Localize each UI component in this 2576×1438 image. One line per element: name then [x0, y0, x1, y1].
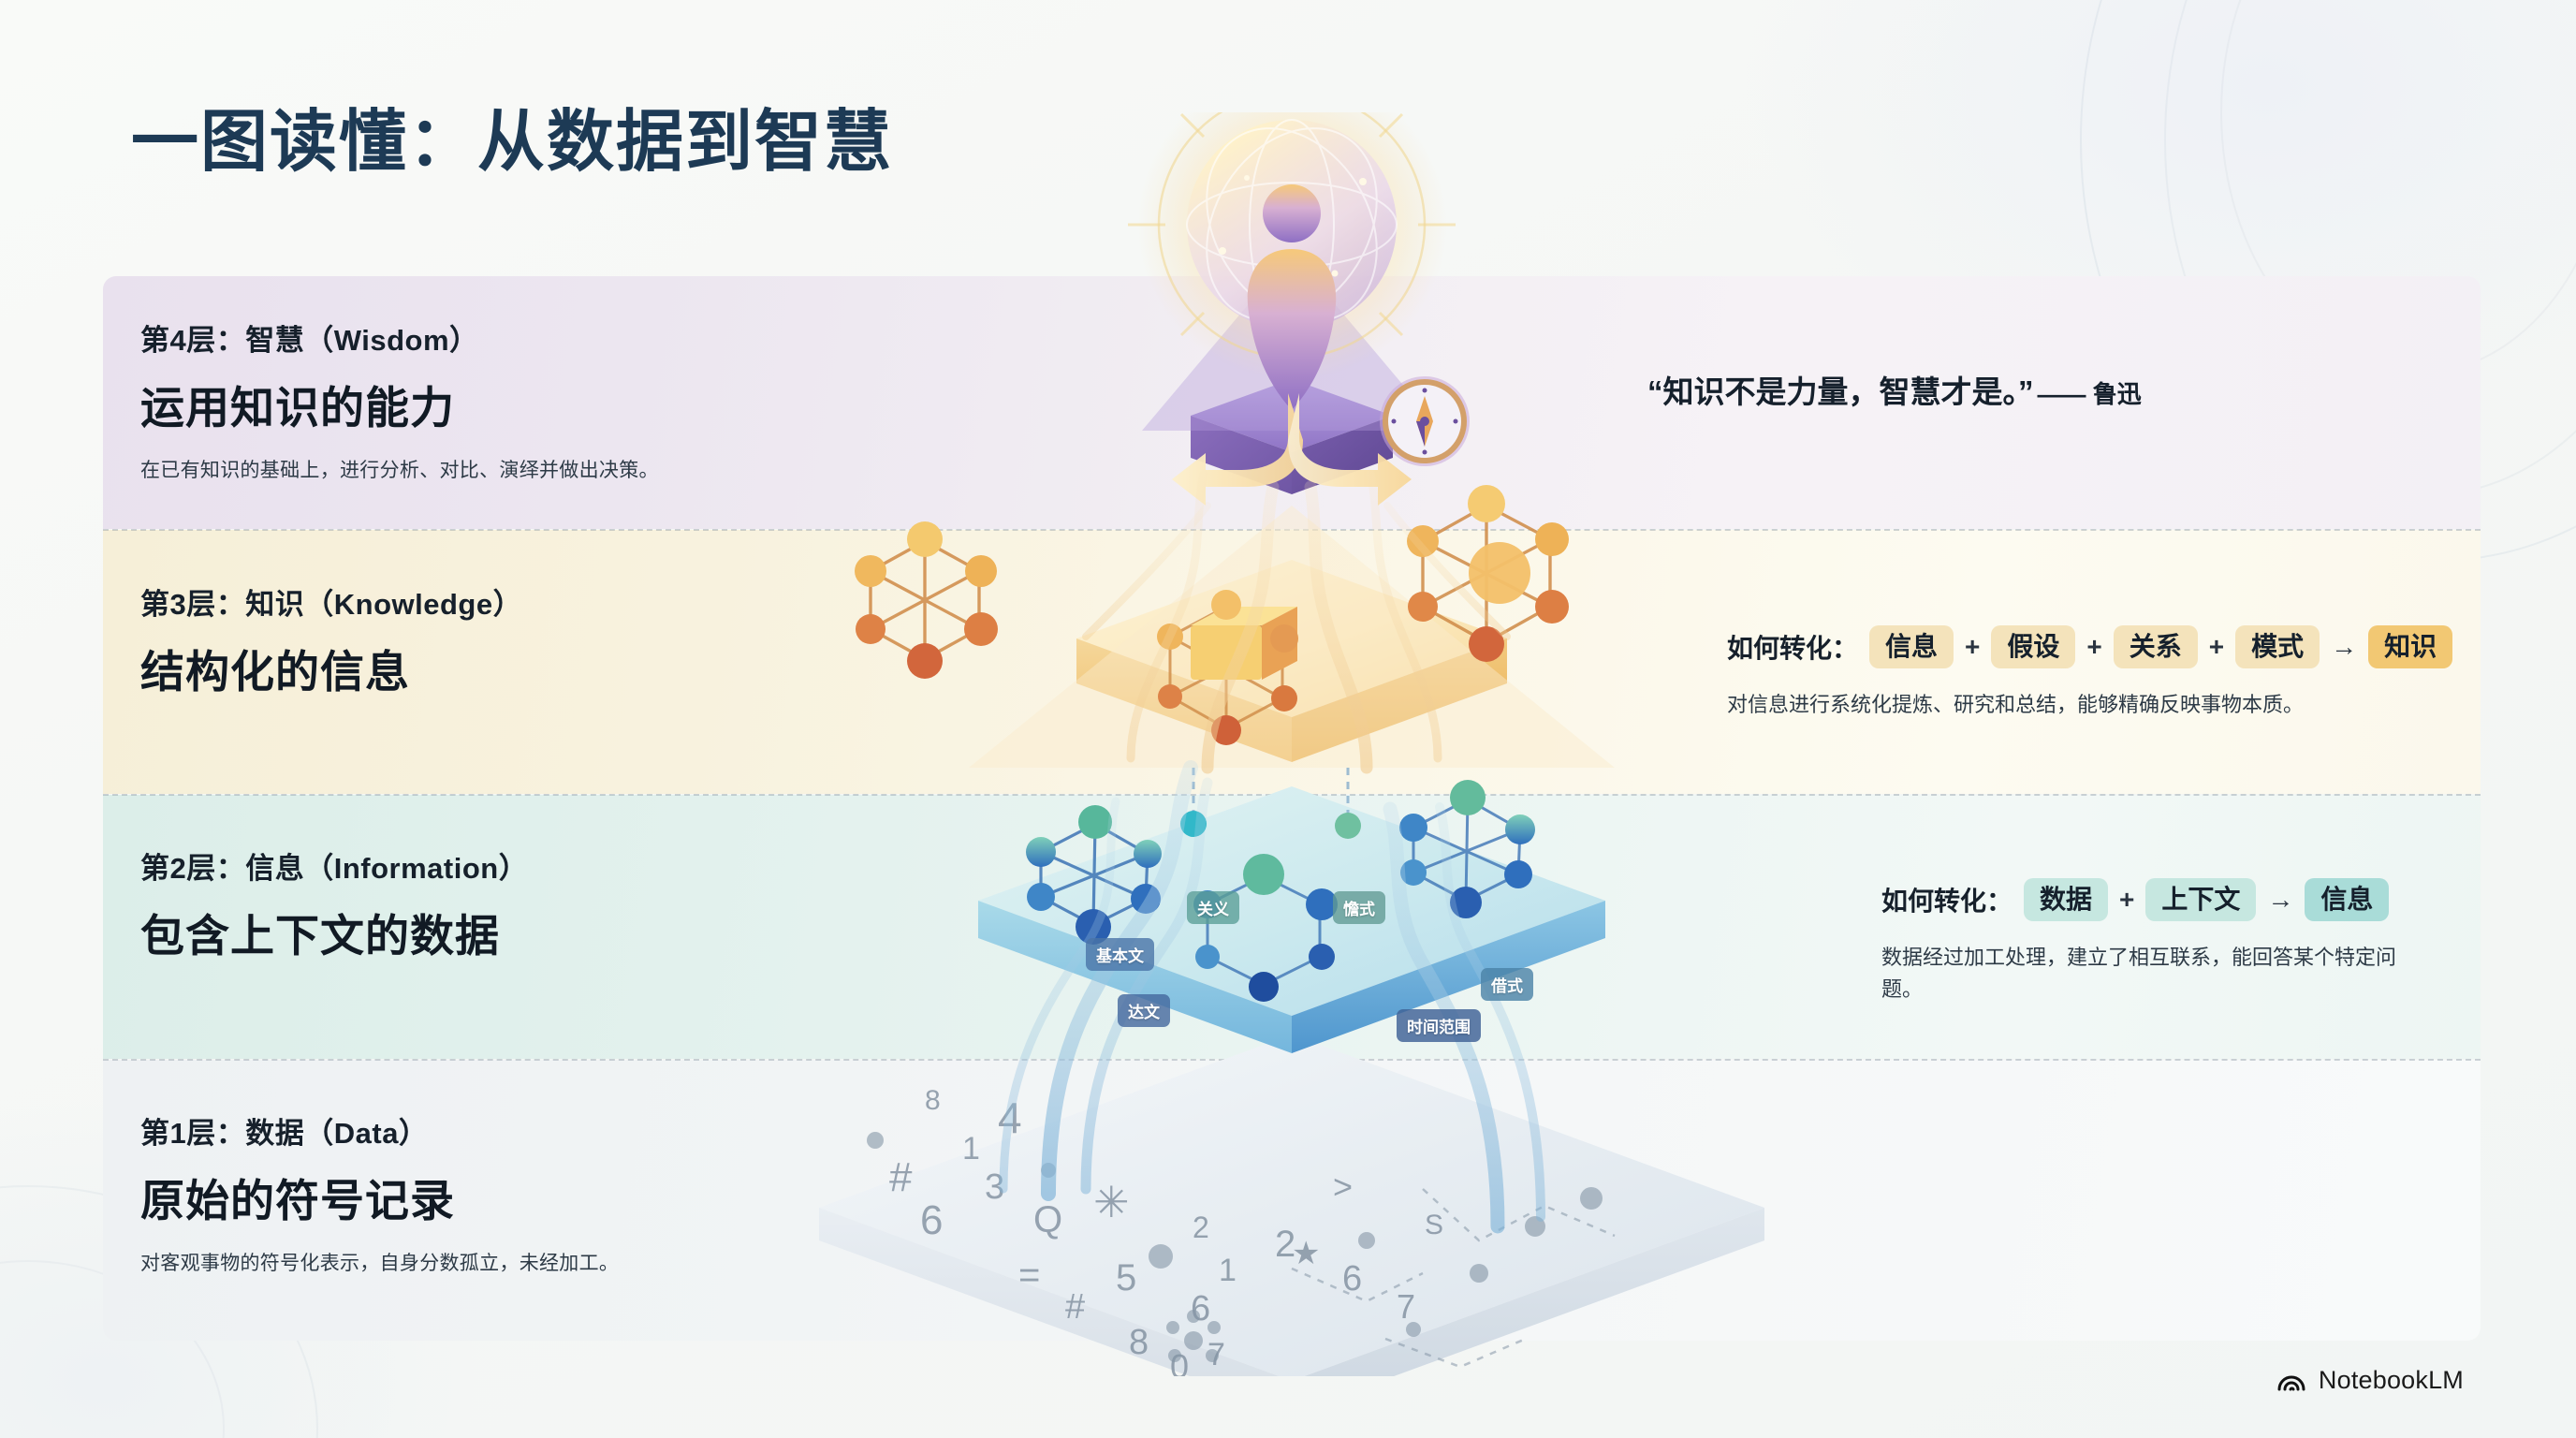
svg-text:8: 8	[925, 1085, 941, 1116]
information-term-1: 数据	[2024, 878, 2108, 921]
knowledge-term-1: 信息	[1869, 625, 1954, 668]
svg-text:2: 2	[1193, 1211, 1209, 1244]
operator-plus: +	[2209, 632, 2224, 662]
layer-text-information: 第2层：信息（Information） 包含上下文的数据	[140, 844, 927, 964]
pyramid-tag-time-range: 时间范围	[1397, 1009, 1481, 1042]
knowledge-term-4: 模式	[2235, 625, 2320, 668]
svg-text:=: =	[1018, 1255, 1040, 1296]
layer-subtitle-information: 包含上下文的数据	[140, 900, 927, 964]
pyramid-tag-semantics: 关义	[1187, 891, 1239, 924]
layer-subtitle-data: 原始的符号记录	[140, 1165, 927, 1229]
svg-text:5: 5	[1116, 1257, 1136, 1299]
infographic-canvas: 一图读懂：从数据到智慧	[0, 0, 2576, 1438]
knowledge-term-3: 关系	[2114, 625, 2198, 668]
information-transform-block: 如何转化： 数据 + 上下文 → 信息 数据经过加工处理，建立了相互联系，能回答…	[1881, 878, 2481, 1005]
information-result: 信息	[2305, 878, 2389, 921]
pyramid-layer-data: 8 4 1 # 3 6 Q ✳ = # 5 6 2 6 7 > ★	[819, 1034, 1764, 1376]
compass-icon	[1380, 376, 1470, 466]
pyramid-tag-basic-text: 基本文	[1086, 938, 1154, 971]
layer-text-data: 第1层：数据（Data） 原始的符号记录 对客观事物的符号化表示，自身分数孤立，…	[140, 1109, 927, 1276]
information-formula-label: 如何转化：	[1881, 881, 2012, 918]
pyramid-tag-jieshi: 借式	[1481, 968, 1533, 1001]
knowledge-formula: 如何转化： 信息 + 假设 + 关系 + 模式 → 知识	[1727, 625, 2476, 668]
svg-text:Q: Q	[1033, 1199, 1062, 1240]
notebooklm-brand: NotebookLM	[2276, 1362, 2464, 1399]
quote-author: —— 鲁迅	[2038, 380, 2142, 408]
layer-heading-data: 第1层：数据（Data）	[140, 1109, 927, 1152]
svg-text:7: 7	[1397, 1287, 1415, 1326]
wisdom-quote: “知识不是力量，智慧才是。”—— 鲁迅	[1647, 367, 2452, 412]
arrow-right-icon: →	[2331, 632, 2357, 662]
svg-text:>: >	[1333, 1167, 1353, 1206]
wisdom-figure	[1128, 112, 1470, 506]
pyramid-layer-information	[978, 768, 1605, 1053]
layer-text-wisdom: 第4层：智慧（Wisdom） 运用知识的能力 在已有知识的基础上，进行分析、对比…	[140, 316, 927, 483]
knowledge-transform-block: 如何转化： 信息 + 假设 + 关系 + 模式 → 知识 对信息进行系统化提炼、…	[1727, 625, 2476, 721]
arrow-right-icon: →	[2267, 885, 2293, 915]
quote-text: “知识不是力量，智慧才是。”	[1647, 374, 2034, 409]
layer-desc-data: 对客观事物的符号化表示，自身分数孤立，未经加工。	[140, 1248, 927, 1276]
svg-text:★: ★	[1292, 1236, 1320, 1271]
operator-plus: +	[1965, 632, 1980, 662]
svg-text:1: 1	[1219, 1253, 1237, 1288]
notebooklm-spiral-icon	[2276, 1362, 2307, 1399]
svg-text:S: S	[1425, 1210, 1443, 1240]
pyramid-tag-pattern: 憺式	[1333, 891, 1385, 924]
information-formula: 如何转化： 数据 + 上下文 → 信息	[1881, 878, 2481, 921]
svg-text:1: 1	[962, 1131, 980, 1167]
layer-subtitle-wisdom: 运用知识的能力	[140, 372, 927, 436]
operator-plus: +	[2086, 632, 2101, 662]
layer-subtitle-knowledge: 结构化的信息	[140, 636, 927, 700]
layer-heading-information: 第2层：信息（Information）	[140, 844, 927, 887]
information-desc: 数据经过加工处理，建立了相互联系，能回答某个特定问题。	[1881, 942, 2406, 1005]
notebooklm-wordmark: NotebookLM	[2319, 1366, 2464, 1395]
knowledge-desc: 对信息进行系统化提炼、研究和总结，能够精确反映事物本质。	[1727, 689, 2476, 721]
layer-heading-knowledge: 第3层：知识（Knowledge）	[140, 580, 927, 623]
svg-text:8: 8	[1129, 1323, 1149, 1362]
layer-desc-wisdom: 在已有知识的基础上，进行分析、对比、演绎并做出决策。	[140, 455, 927, 483]
svg-text:#: #	[1065, 1287, 1085, 1327]
knowledge-result: 知识	[2368, 625, 2452, 668]
information-term-2: 上下文	[2145, 878, 2256, 921]
knowledge-term-2: 假设	[1991, 625, 2075, 668]
operator-plus: +	[2119, 885, 2134, 915]
layer-heading-wisdom: 第4层：智慧（Wisdom）	[140, 316, 927, 359]
pyramid-tag-dawen: 达文	[1118, 994, 1170, 1027]
knowledge-formula-label: 如何转化：	[1727, 628, 1858, 666]
layer-text-knowledge: 第3层：知识（Knowledge） 结构化的信息	[140, 580, 927, 700]
svg-text:✳: ✳	[1093, 1178, 1130, 1226]
